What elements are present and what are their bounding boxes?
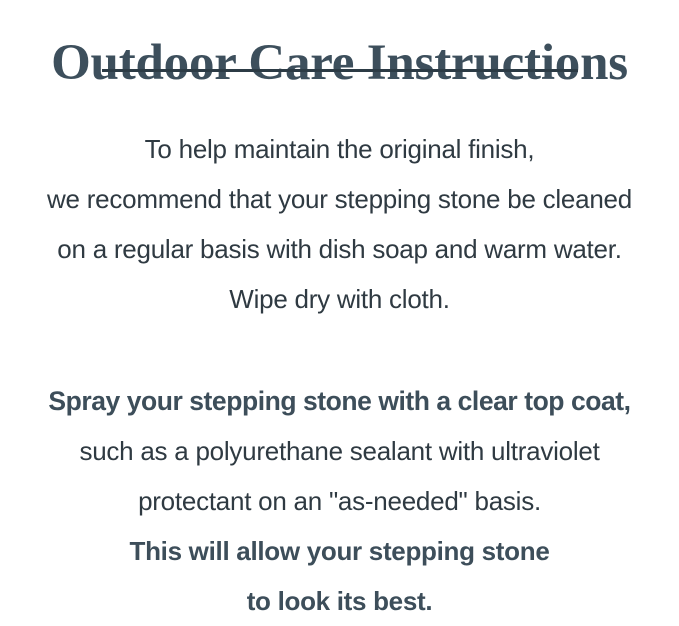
body-line: on a regular basis with dish soap and wa… xyxy=(0,224,679,274)
care-instructions-page: Outdoor Care Instructions To help mainta… xyxy=(0,0,679,613)
body-line-emphasized: This will allow your stepping stone xyxy=(0,526,679,576)
paragraph-maintenance: To help maintain the original finish, we… xyxy=(0,124,679,324)
page-title: Outdoor Care Instructions xyxy=(0,34,679,92)
body-line: To help maintain the original finish, xyxy=(0,124,679,174)
title-divider xyxy=(102,69,578,72)
paragraph-sealant: Spray your stepping stone with a clear t… xyxy=(0,376,679,626)
body-line: we recommend that your stepping stone be… xyxy=(0,174,679,224)
body-line-emphasized: to look its best. xyxy=(0,576,679,626)
body-line: protectant on an "as-needed" basis. xyxy=(0,476,679,526)
body-line: such as a polyurethane sealant with ultr… xyxy=(0,426,679,476)
body-line-emphasized: Spray your stepping stone with a clear t… xyxy=(0,376,679,426)
body-line: Wipe dry with cloth. xyxy=(0,274,679,324)
